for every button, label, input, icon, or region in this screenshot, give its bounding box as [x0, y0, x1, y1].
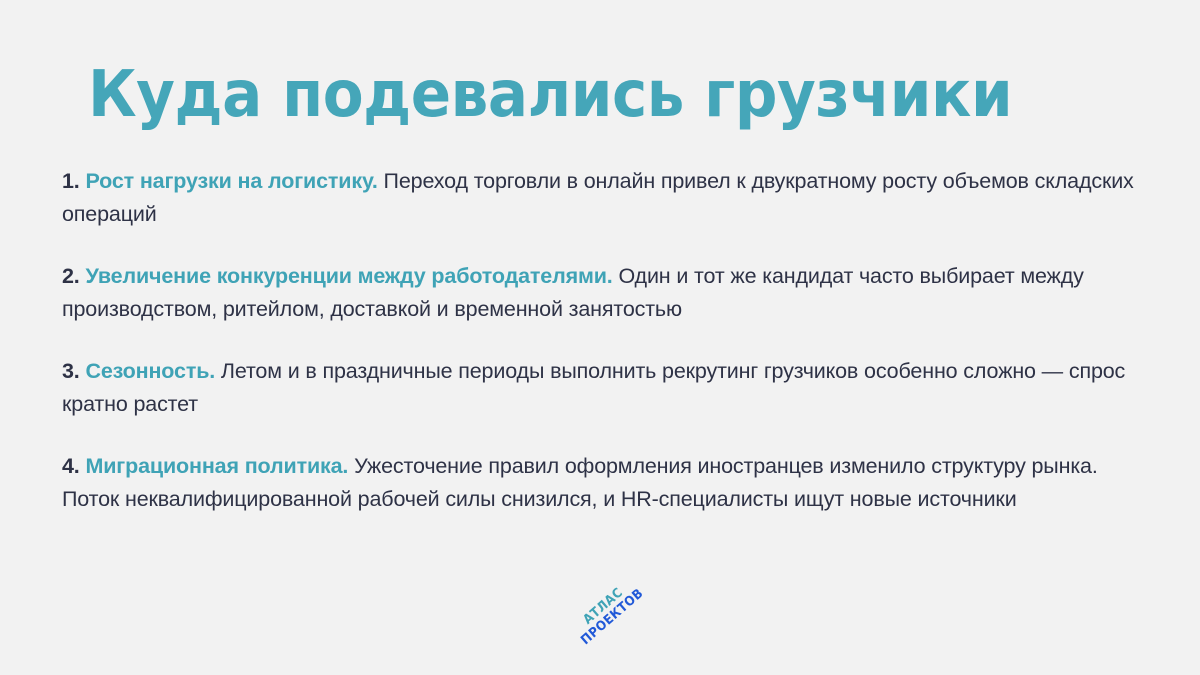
list-item-number: 4. [62, 454, 80, 478]
list-item: 2. Увеличение конкуренции между работода… [62, 260, 1152, 326]
list-item-number: 2. [62, 264, 80, 288]
list-item-number: 3. [62, 359, 80, 383]
list-item-number: 1. [62, 169, 80, 193]
list-item-lead: Сезонность. [85, 359, 215, 383]
page-title: Куда подевались грузчики [88, 57, 1055, 133]
points-list: 1. Рост нагрузки на логистику. Переход т… [62, 165, 1152, 516]
list-item-lead: Рост нагрузки на логистику. [85, 169, 377, 193]
slide: Куда подевались грузчики 1. Рост нагрузк… [0, 0, 1200, 675]
brand-logo: АТЛАС ПРОЕКТОВ [548, 572, 668, 652]
list-item: 4. Миграционная политика. Ужесточение пр… [62, 450, 1152, 516]
list-item-lead: Увеличение конкуренции между работодател… [85, 264, 612, 288]
list-item-text: Летом и в праздничные периоды выполнить … [62, 359, 1125, 416]
list-item: 3. Сезонность. Летом и в праздничные пер… [62, 355, 1152, 421]
list-item-lead: Миграционная политика. [85, 454, 348, 478]
list-item: 1. Рост нагрузки на логистику. Переход т… [62, 165, 1152, 231]
brand-logo-text: АТЛАС ПРОЕКТОВ [567, 574, 648, 650]
